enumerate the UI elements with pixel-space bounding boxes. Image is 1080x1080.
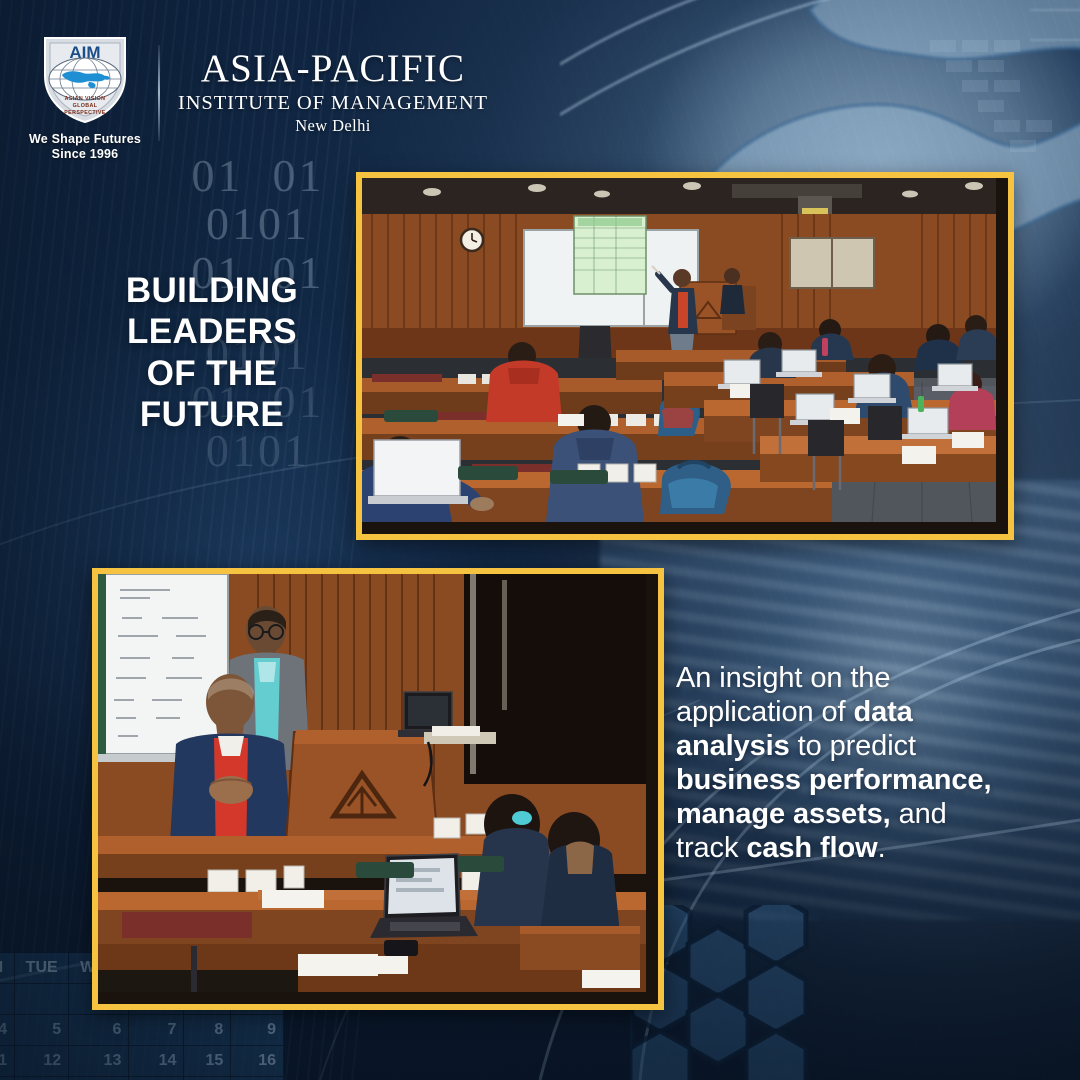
crest-motto-line-1: ASIAN VISION: [65, 96, 106, 102]
calendar-cell: 7: [129, 1015, 184, 1046]
calendar-row: 4 5 6 7 8 9: [0, 1015, 284, 1046]
header-divider: [158, 45, 160, 141]
calendar-row: 11 12 13 14 15 16: [0, 1046, 284, 1077]
calendar-cell: [0, 984, 15, 1015]
calendar-cell: 13: [69, 1046, 129, 1077]
body-copy-plain: .: [878, 832, 886, 864]
calendar-cell: 20: [69, 1077, 129, 1080]
calendar-row: 18 19 20 21 22 23: [0, 1077, 284, 1080]
calendar-cell: 12: [15, 1046, 69, 1077]
tagline-line-1: We Shape Futures: [29, 132, 141, 147]
poster-canvas: MON TUE WED THU FRI SAT 1 2: [0, 0, 1080, 1080]
calendar-cell: [15, 984, 69, 1015]
calendar-cell: 9: [231, 1015, 284, 1046]
calendar-cell: 21: [129, 1077, 184, 1080]
body-copy-emphasis: cash flow: [746, 832, 877, 864]
calendar-cell: 14: [129, 1046, 184, 1077]
calendar-cell: 6: [69, 1015, 129, 1046]
calendar-cell: 4: [0, 1015, 15, 1046]
page-title: BUILDING LEADERS OF THE FUTURE: [106, 270, 318, 435]
crest-motto-line-2: GLOBAL: [73, 103, 98, 109]
institute-name: ASIA-PACIFIC INSTITUTE OF MANAGEMENT New…: [178, 49, 488, 136]
calendar-cell: 18: [0, 1077, 15, 1080]
headline-line-3: OF THE: [106, 353, 318, 394]
calendar-cell: 8: [184, 1015, 231, 1046]
classroom-lecture-photo: [356, 172, 1014, 540]
calendar-cell: 5: [15, 1015, 69, 1046]
body-copy-text: An insight on the application of data an…: [676, 662, 991, 864]
calendar-header-cell: MON: [0, 953, 15, 984]
tagline-line-2: Since 1996: [29, 147, 141, 162]
crest-motto-line-3: PERSPECTIVE: [64, 110, 106, 116]
institute-name-line-2: INSTITUTE OF MANAGEMENT: [178, 92, 488, 115]
calendar-cell: 23: [231, 1077, 284, 1080]
headline-line-2: LEADERS: [106, 311, 318, 352]
calendar-header-cell: TUE: [15, 953, 69, 984]
calendar-cell: 15: [184, 1046, 231, 1077]
institute-name-line-3: New Delhi: [178, 116, 488, 136]
brand-tagline: We Shape Futures Since 1996: [29, 132, 141, 162]
podium-speakers-photo: [92, 568, 664, 1010]
calendar-cell: 19: [15, 1077, 69, 1080]
body-copy: An insight on the application of data an…: [676, 662, 1006, 866]
calendar-cell: 16: [231, 1046, 284, 1077]
body-copy-plain: to predict: [790, 730, 916, 762]
headline-line-1: BUILDING: [106, 270, 318, 311]
headline-line-4: FUTURE: [106, 394, 318, 435]
calendar-cell: 22: [184, 1077, 231, 1080]
brand-header: AIM ASIAN VISION GLOB: [26, 24, 488, 162]
calendar-cell: 11: [0, 1046, 15, 1077]
institute-name-line-1: ASIA-PACIFIC: [178, 49, 488, 89]
logo-block: AIM ASIAN VISION GLOB: [26, 24, 144, 162]
aim-crest-icon: AIM ASIAN VISION GLOB: [33, 24, 137, 128]
